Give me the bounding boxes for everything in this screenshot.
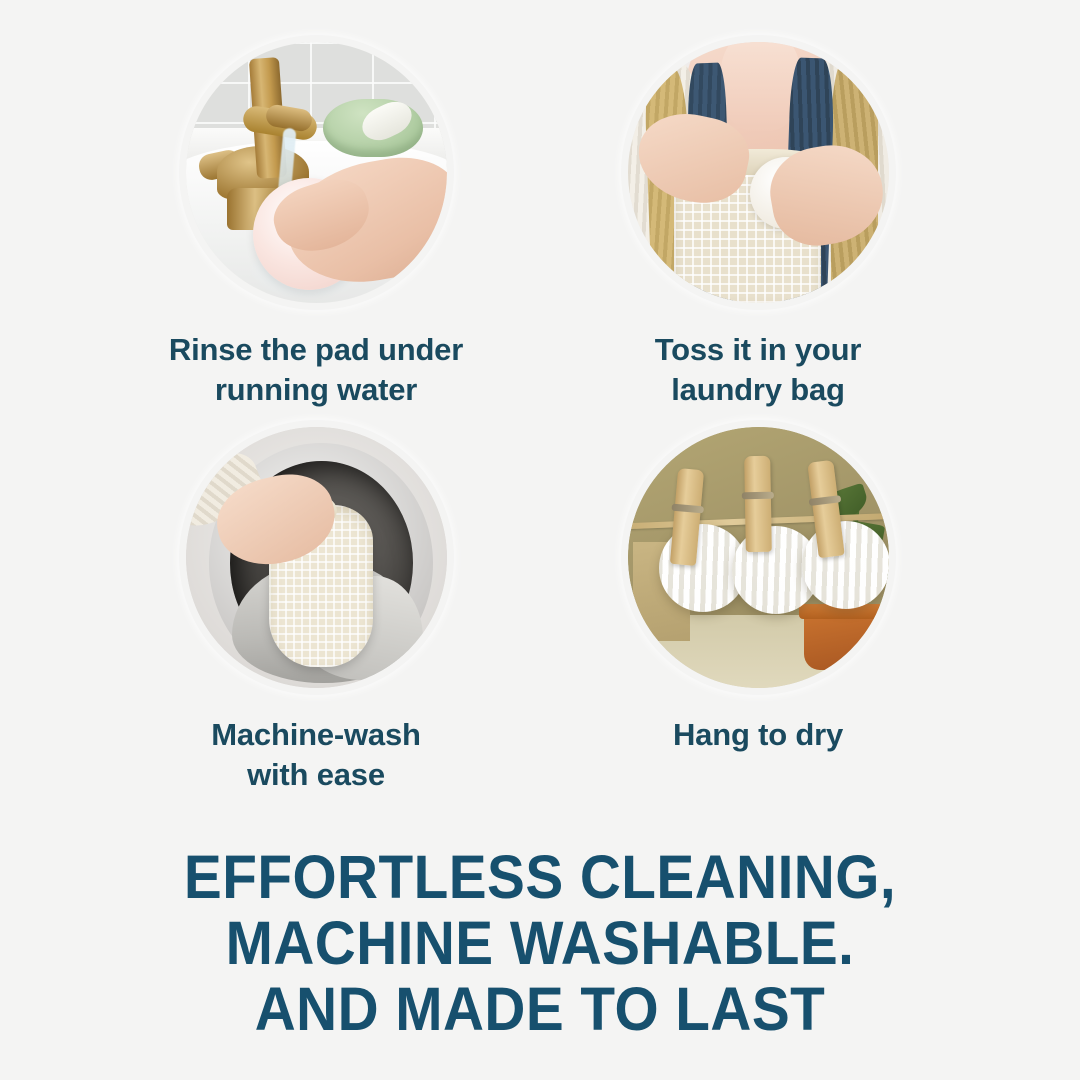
caption-line-1: Rinse the pad under bbox=[169, 332, 463, 367]
caption-line-2: laundry bag bbox=[671, 372, 845, 407]
caption-line-1: Machine-wash bbox=[211, 717, 420, 752]
page-root: Rinse the pad under running water bbox=[0, 0, 1080, 1080]
photo-toss-in-laundry-bag bbox=[628, 42, 889, 303]
sink-scene bbox=[186, 42, 447, 303]
photo-hang-to-dry bbox=[628, 427, 889, 688]
person-neck bbox=[721, 42, 799, 131]
terracotta-plant-pot bbox=[804, 612, 878, 670]
photo-hang-to-dry-image bbox=[628, 427, 889, 688]
caption-line-2: running water bbox=[215, 372, 417, 407]
step-toss-caption: Toss it in your laundry bag bbox=[488, 330, 1028, 411]
hang-dry-scene bbox=[628, 427, 889, 688]
photo-machine-wash-image bbox=[186, 427, 447, 688]
headline-line-1: EFFORTLESS CLEANING, bbox=[38, 845, 1042, 911]
photo-rinse-pad-image bbox=[186, 42, 447, 303]
laundry-bag-scene bbox=[628, 42, 889, 303]
caption-line-2: with ease bbox=[247, 757, 385, 792]
steps-grid: Rinse the pad under running water bbox=[0, 0, 1080, 810]
headline: EFFORTLESS CLEANING, MACHINE WASHABLE. A… bbox=[38, 845, 1042, 1043]
caption-line-1: Toss it in your bbox=[655, 332, 862, 367]
photo-rinse-pad bbox=[186, 42, 447, 303]
photo-machine-wash bbox=[186, 427, 447, 688]
headline-line-2: MACHINE WASHABLE. bbox=[38, 911, 1042, 977]
caption-line-1: Hang to dry bbox=[673, 717, 843, 752]
headline-line-3: AND MADE TO LAST bbox=[38, 977, 1042, 1043]
step-hang-to-dry: Hang to dry bbox=[488, 427, 1028, 755]
washing-machine-scene bbox=[186, 427, 447, 688]
step-hang-to-dry-caption: Hang to dry bbox=[488, 715, 1028, 755]
photo-toss-in-laundry-bag-image bbox=[628, 42, 889, 303]
step-toss: Toss it in your laundry bag bbox=[488, 42, 1028, 411]
clothespin-icon bbox=[744, 455, 772, 551]
